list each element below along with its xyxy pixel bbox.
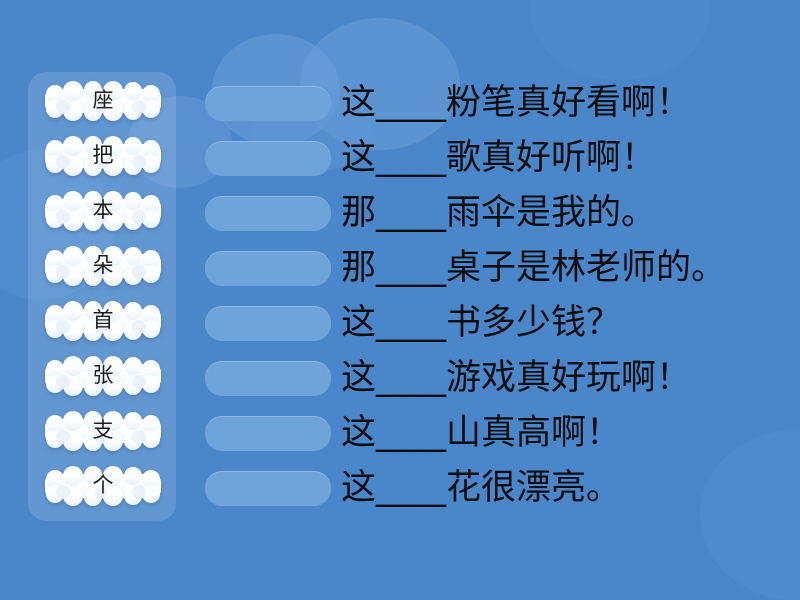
sentence-row: 这____歌真好听啊！ <box>205 131 800 186</box>
sentence-text: 这____花很漂亮。 <box>341 470 800 507</box>
word-tile-label: 首 <box>93 310 114 331</box>
answer-dropzone-6[interactable] <box>205 361 331 396</box>
word-tile-label: 本 <box>93 200 114 221</box>
answer-dropzone-7[interactable] <box>205 416 331 451</box>
word-tile-label: 座 <box>93 90 114 111</box>
word-tile-label: 支 <box>93 420 114 441</box>
sentence-text: 这____歌真好听啊！ <box>341 140 800 177</box>
word-tile-label: 张 <box>93 365 114 386</box>
sentence-text: 这____书多少钱？ <box>341 305 800 342</box>
sentence-row: 这____山真高啊！ <box>205 406 800 461</box>
game-stage: 座把本朵首张支个 这____粉笔真好看啊！这____歌真好听啊！那____雨伞是… <box>0 0 800 600</box>
sentence-row: 这____花很漂亮。 <box>205 461 800 516</box>
sentence-text: 那____雨伞是我的。 <box>341 195 800 232</box>
answer-dropzone-3[interactable] <box>205 196 331 231</box>
answer-dropzone-4[interactable] <box>205 251 331 286</box>
sentence-text: 这____山真高啊！ <box>341 415 800 452</box>
sentence-rows: 这____粉笔真好看啊！这____歌真好听啊！那____雨伞是我的。那____桌… <box>0 0 800 600</box>
word-tile-label: 个 <box>93 475 114 496</box>
answer-dropzone-5[interactable] <box>205 306 331 341</box>
word-tile-label: 把 <box>93 145 114 166</box>
sentence-row: 那____雨伞是我的。 <box>205 186 800 241</box>
answer-dropzone-1[interactable] <box>205 86 331 121</box>
word-tile-label: 朵 <box>93 255 114 276</box>
sentence-text: 那____桌子是林老师的。 <box>341 250 800 287</box>
answer-dropzone-2[interactable] <box>205 141 331 176</box>
answer-dropzone-8[interactable] <box>205 471 331 506</box>
sentence-text: 这____粉笔真好看啊！ <box>341 85 800 122</box>
sentence-row: 这____粉笔真好看啊！ <box>205 76 800 131</box>
sentence-text: 这____游戏真好玩啊！ <box>341 360 800 397</box>
sentence-row: 这____书多少钱？ <box>205 296 800 351</box>
sentence-row: 这____游戏真好玩啊！ <box>205 351 800 406</box>
sentence-row: 那____桌子是林老师的。 <box>205 241 800 296</box>
